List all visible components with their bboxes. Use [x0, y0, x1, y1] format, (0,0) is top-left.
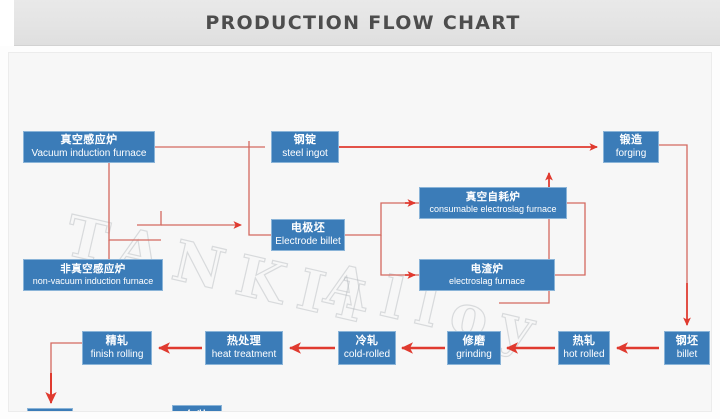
flow-chart-inner: TANKII Alloy [9, 53, 712, 412]
node-label-en: consumable electroslag furnace [429, 204, 556, 214]
node-forging[interactable]: 锻造 forging [603, 131, 659, 163]
node-cutting[interactable]: 分剪 cutting [27, 408, 73, 412]
node-label-cn: 锻造 [620, 134, 643, 147]
node-electrode-billet[interactable]: 电极坯 Electrode billet [271, 219, 345, 251]
node-label-cn: 真空自耗炉 [466, 191, 521, 203]
node-label-en: non-vacuum induction furnace [33, 276, 154, 286]
node-cold-rolled[interactable]: 冷轧 cold-rolled [338, 331, 396, 365]
edge-finishrolling-to-cutting [51, 343, 82, 397]
node-label-cn: 热处理 [227, 335, 261, 348]
node-label-cn: 冷轧 [356, 335, 379, 348]
edge-vacuum-to-junction [109, 163, 161, 240]
page-title: PRODUCTION FLOW CHART [0, 0, 720, 46]
edge-billet-left-bracket [249, 141, 271, 235]
node-label-en: forging [616, 148, 647, 160]
node-label-cn: 包装 [186, 410, 209, 412]
node-hot-rolled[interactable]: 热轧 hot rolled [558, 331, 610, 365]
node-finish-rolling[interactable]: 精轧 finish rolling [82, 331, 152, 365]
node-label-en: Vacuum induction furnace [32, 148, 147, 160]
node-label-cn: 非真空感应炉 [60, 263, 125, 275]
node-vacuum-induction-furnace[interactable]: 真空感应炉 Vacuum induction furnace [23, 131, 155, 163]
production-flow-chart-page: PRODUCTION FLOW CHART TANKII Alloy [0, 0, 720, 419]
node-label-cn: 钢坯 [676, 335, 699, 348]
edge-billet-to-consumable [345, 203, 419, 235]
node-steel-ingot[interactable]: 钢锭 steel ingot [271, 131, 339, 163]
node-electroslag-furnace[interactable]: 电渣炉 electroslag furnace [419, 259, 555, 291]
node-label-en: heat treatment [212, 349, 276, 361]
node-label-en: Electrode billet [275, 236, 341, 248]
node-label-en: billet [677, 349, 698, 361]
node-label-en: hot rolled [563, 349, 604, 361]
node-label-cn: 真空感应炉 [61, 134, 118, 147]
edge-billet-to-electroslag [381, 235, 419, 275]
node-label-cn: 电渣炉 [471, 263, 504, 275]
node-billet[interactable]: 钢坯 billet [664, 331, 710, 365]
node-label-en: steel ingot [282, 148, 328, 160]
node-label-en: electroslag furnace [449, 276, 525, 286]
node-non-vacuum-induction-furnace[interactable]: 非真空感应炉 non-vacuum induction furnace [23, 259, 163, 291]
node-consumable-electroslag-furnace[interactable]: 真空自耗炉 consumable electroslag furnace [419, 187, 567, 219]
flow-chart-canvas: TANKII Alloy [8, 52, 712, 412]
node-label-cn: 热轧 [573, 335, 596, 348]
node-label-cn: 精轧 [106, 335, 129, 348]
node-label-en: finish rolling [91, 349, 144, 361]
node-label-cn: 钢锭 [294, 134, 317, 147]
edge-forging-to-billet [659, 145, 687, 321]
node-label-en: cold-rolled [344, 349, 390, 361]
node-packing[interactable]: 包装 packing [172, 405, 222, 412]
node-grinding[interactable]: 修磨 grinding [447, 331, 501, 365]
node-label-cn: 电极坯 [291, 222, 325, 235]
edge-step-lower [137, 211, 161, 225]
node-label-en: grinding [456, 349, 492, 361]
node-label-cn: 修磨 [463, 335, 486, 348]
node-heat-treatment[interactable]: 热处理 heat treatment [205, 331, 283, 365]
